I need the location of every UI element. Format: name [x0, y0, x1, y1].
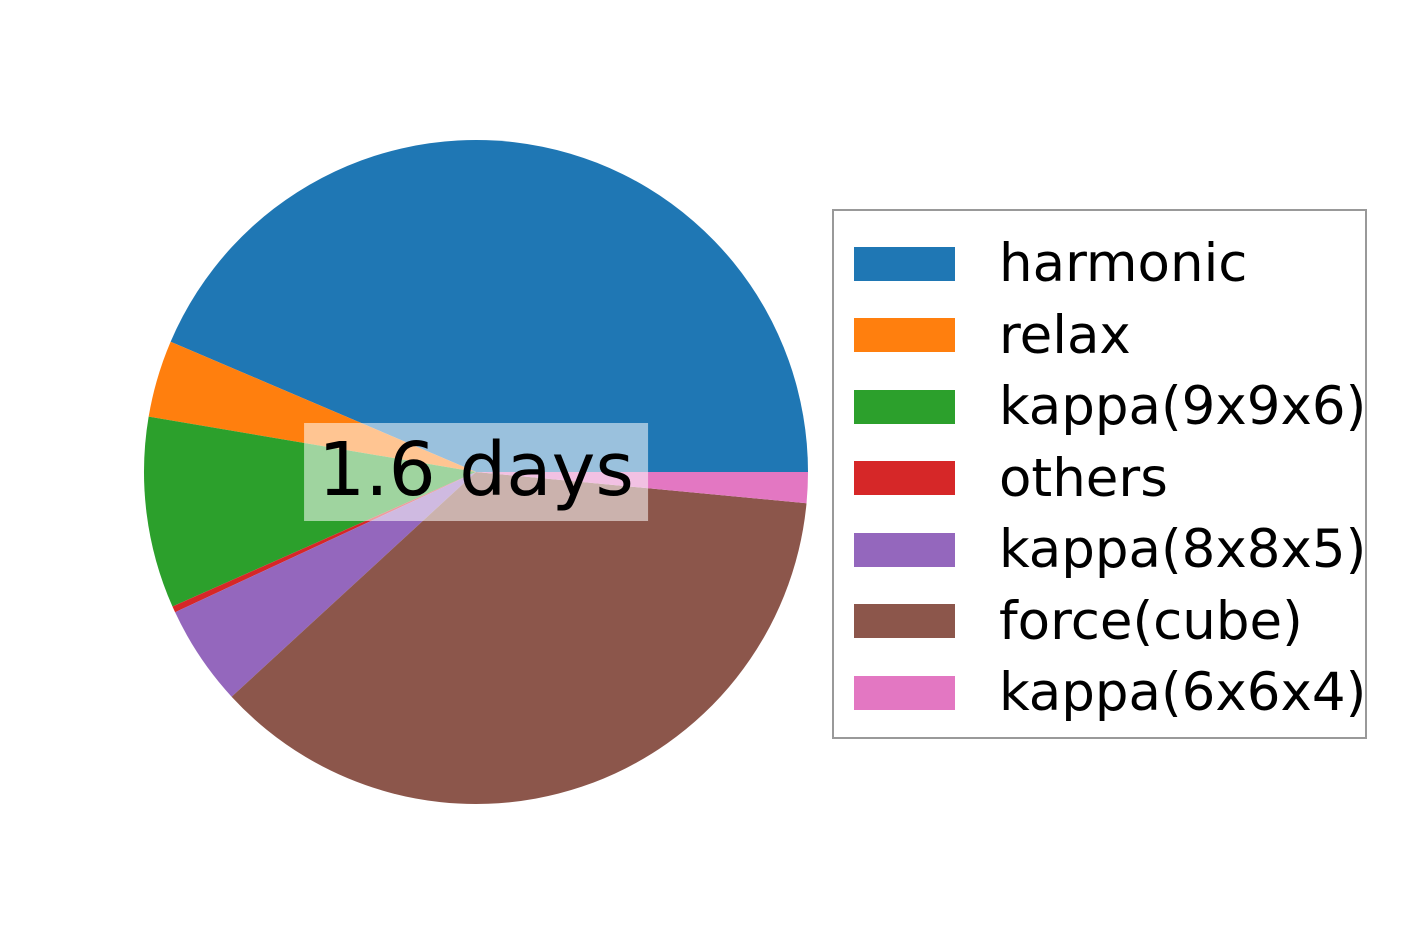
legend-color-swatch — [854, 604, 955, 638]
legend-item-label: harmonic — [999, 237, 1247, 290]
pie-chart-figure: 1.6 days harmonicrelaxkappa(9x9x6)others… — [0, 0, 1419, 951]
center-annotation-label: 1.6 days — [304, 423, 648, 521]
legend-item-label: kappa(8x8x5) — [999, 523, 1366, 576]
pie-plot-area: 1.6 days — [0, 0, 820, 951]
legend-item[interactable]: kappa(6x6x4) — [834, 657, 1365, 729]
legend-entry-list: harmonicrelaxkappa(9x9x6)otherskappa(8x8… — [834, 211, 1365, 737]
legend-color-swatch — [854, 247, 955, 281]
legend-item-label: kappa(9x9x6) — [999, 380, 1366, 433]
legend-color-swatch — [854, 533, 955, 567]
legend-item[interactable]: relax — [834, 300, 1365, 372]
legend-item-label: others — [999, 452, 1168, 505]
legend-item[interactable]: force(cube) — [834, 586, 1365, 658]
legend-color-swatch — [854, 676, 955, 710]
legend-item[interactable]: harmonic — [834, 228, 1365, 300]
legend-item-label: kappa(6x6x4) — [999, 666, 1366, 719]
legend-item[interactable]: kappa(9x9x6) — [834, 371, 1365, 443]
legend-item-label: relax — [999, 309, 1131, 362]
legend-item[interactable]: others — [834, 443, 1365, 515]
legend-color-swatch — [854, 390, 955, 424]
legend-item[interactable]: kappa(8x8x5) — [834, 514, 1365, 586]
legend-color-swatch — [854, 318, 955, 352]
legend-color-swatch — [854, 461, 955, 495]
legend-box: harmonicrelaxkappa(9x9x6)otherskappa(8x8… — [832, 209, 1367, 739]
legend-item-label: force(cube) — [999, 595, 1303, 648]
